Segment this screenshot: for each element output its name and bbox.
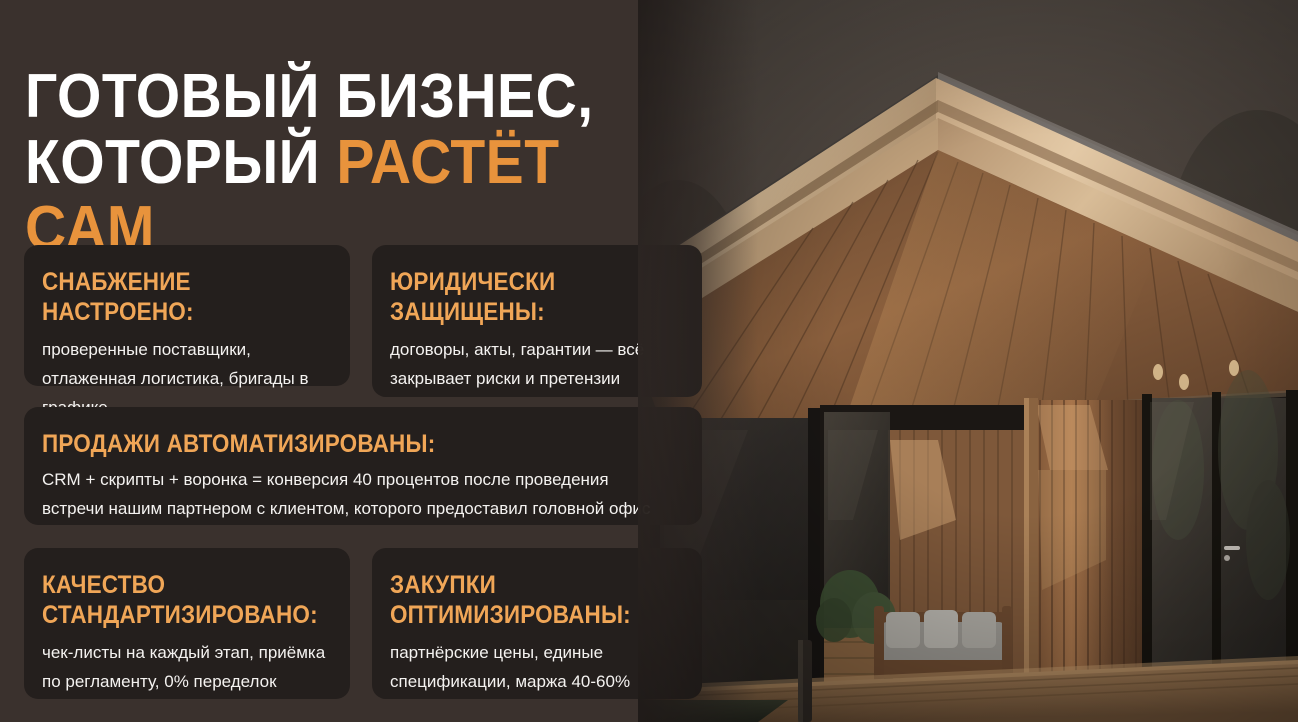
card-sales-body: CRM + скрипты + воронка = конверсия 40 п… bbox=[42, 465, 682, 523]
card-supply-title: Снабжение настроено: bbox=[42, 267, 301, 327]
card-purchase: Закупки оптимизированы: партнёрские цены… bbox=[372, 548, 702, 699]
card-legal-body: договоры, акты, гарантии — всё закрывает… bbox=[390, 335, 682, 393]
card-quality: Качество стандартизировано: чек-листы на… bbox=[24, 548, 350, 699]
bollard-light bbox=[798, 640, 812, 722]
page-title: Готовый бизнес, Который Растёт сам bbox=[25, 64, 595, 262]
card-sales-title: Продажи автоматизированы: bbox=[42, 429, 618, 459]
door-handle bbox=[1224, 546, 1240, 550]
headline-line-2: Который Растёт сам bbox=[25, 130, 595, 262]
card-quality-title: Качество стандартизировано: bbox=[42, 570, 301, 630]
card-supply: Снабжение настроено: проверенные поставщ… bbox=[24, 245, 350, 386]
cabin-illustration bbox=[638, 0, 1298, 722]
headline-line-2-white: Который bbox=[25, 128, 336, 197]
card-purchase-body: партнёрские цены, единые спецификации, м… bbox=[390, 638, 682, 696]
card-legal: Юридически защищены: договоры, акты, гар… bbox=[372, 245, 702, 397]
door-lock-icon bbox=[1224, 555, 1230, 561]
card-purchase-title: Закупки оптимизированы: bbox=[390, 570, 653, 630]
card-quality-body: чек-листы на каждый этап, приёмка по рег… bbox=[42, 638, 330, 696]
headline-line-1: Готовый бизнес, bbox=[25, 62, 594, 131]
cabin-photo bbox=[638, 0, 1298, 722]
card-legal-title: Юридически защищены: bbox=[390, 267, 653, 327]
promo-slide: Готовый бизнес, Который Растёт сам Снабж… bbox=[0, 0, 1298, 722]
card-sales: Продажи автоматизированы: CRM + скрипты … bbox=[24, 407, 702, 525]
